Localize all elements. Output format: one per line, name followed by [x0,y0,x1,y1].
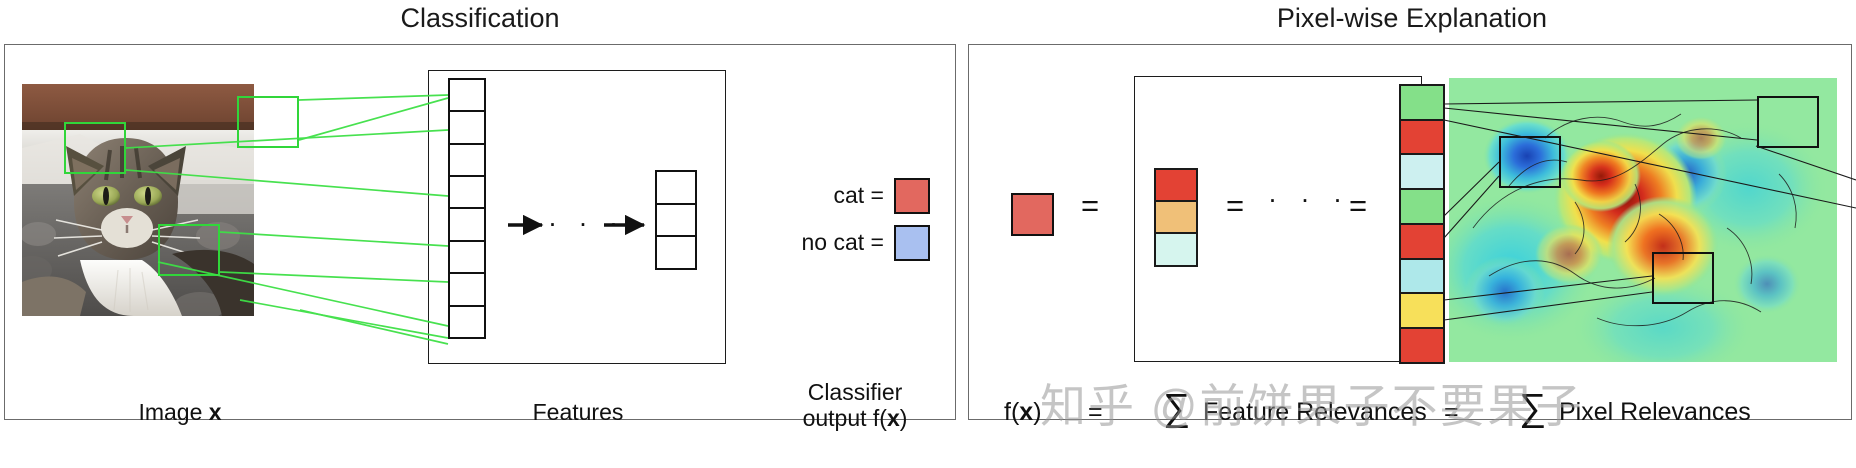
output-cell [655,170,697,205]
pixel-relevance-cell [1399,119,1445,156]
legend-swatch-no-cat [894,225,930,261]
watermark-text: 知乎 @前饼果子不要果子 [1040,370,1830,430]
cat-photo-svg [22,84,254,316]
equation-lhs-var: x [1019,398,1033,426]
pixel-relevance-cell [1399,258,1445,295]
equals-sign-3: = [1349,188,1367,224]
relevance-cell [1154,200,1198,235]
heatmap-box-1 [1499,136,1561,188]
triple-relevance-vector [1154,168,1198,268]
feature-cell [448,175,486,210]
classifier-output-var: x [887,405,900,431]
output-vector [655,170,697,275]
feature-cell [448,272,486,307]
left-panel-title: Classification [0,3,960,34]
class-legend: cat = no cat = [770,172,930,266]
feature-cell [448,78,486,113]
feature-cell [448,143,486,178]
highlight-box-3 [158,224,220,276]
relevance-cell [1154,232,1198,267]
label-classifier-line1: Classifier [770,380,940,406]
highlight-box-2 [237,96,299,148]
classifier-output-post: ) [900,405,908,431]
legend-label-no-cat: no cat = [802,229,884,256]
pixel-relevance-cell [1399,188,1445,225]
label-features: Features [478,400,678,426]
output-cell [655,235,697,270]
pixel-relevance-cell [1399,292,1445,329]
label-classifier-output: Classifier output f(x) [770,380,940,432]
legend-label-cat: cat = [833,182,884,209]
label-image-var: x [209,399,222,425]
single-relevance-cell [1011,193,1054,236]
heatmap-box-2 [1757,96,1819,148]
ellipsis-features: · · · [548,210,625,237]
feature-cell [448,305,486,340]
legend-row-cat: cat = [770,172,930,219]
label-classifier-line2: output f(x) [770,406,940,432]
right-panel-title: Pixel-wise Explanation [968,3,1856,34]
highlight-box-1 [64,122,126,174]
output-cell [655,203,697,238]
input-image-cat-photo [22,84,254,316]
equation-lhs: f(x) [1004,398,1042,427]
pixel-relevance-cell [1399,84,1445,121]
pixel-relevance-vector [1399,84,1445,362]
feature-cell [448,207,486,242]
label-image-text: Image [138,399,202,425]
feature-vector [448,78,486,356]
equals-sign-1: = [1081,188,1099,224]
legend-row-no-cat: no cat = [770,219,930,266]
classifier-output-pre: output f( [803,405,887,431]
ellipsis-relevance: · · · [1268,186,1350,213]
relevance-cell [1154,168,1198,203]
pixel-relevance-cell [1399,327,1445,364]
feature-cell [448,110,486,145]
pixel-relevance-cell [1399,153,1445,190]
feature-cell [448,240,486,275]
legend-swatch-cat [894,178,930,214]
equation-lhs-pre: f( [1004,398,1019,426]
equals-sign-2: = [1226,188,1244,224]
label-image-x: Image x [80,400,280,426]
heatmap-box-3 [1652,252,1714,304]
pixel-relevance-cell [1399,223,1445,260]
